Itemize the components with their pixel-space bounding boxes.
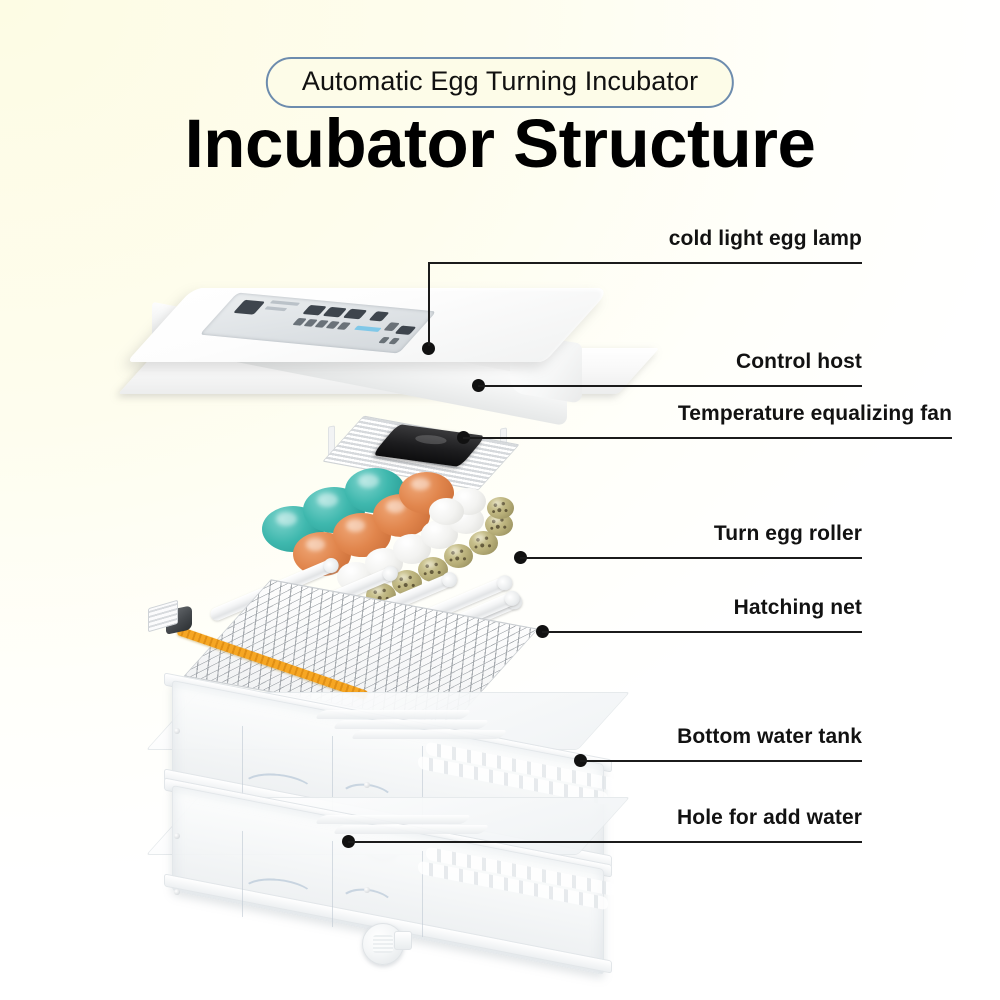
callout-leader-vertical xyxy=(428,262,430,346)
callout-leader-line xyxy=(463,437,952,439)
callout-leader-line xyxy=(542,631,862,633)
callout-leader-line xyxy=(478,385,862,387)
infographic-canvas: Automatic Egg Turning Incubator Incubato… xyxy=(0,0,1000,1000)
callout-label: Hatching net xyxy=(0,596,862,620)
callout-label: Bottom water tank xyxy=(0,725,862,749)
callout-leader-line xyxy=(580,760,862,762)
callout-label: cold light egg lamp xyxy=(0,227,862,251)
callout-leader-line xyxy=(428,262,862,264)
callout-label: Hole for add water xyxy=(0,806,862,830)
callout-label: Temperature equalizing fan xyxy=(0,402,952,426)
exploded-assembly-illustration xyxy=(0,0,1000,1000)
callout-leader-line xyxy=(348,841,862,843)
callout-leader-line xyxy=(520,557,862,559)
callout-label: Control host xyxy=(0,350,862,374)
callout-label: Turn egg roller xyxy=(0,522,862,546)
water-fill-cap xyxy=(362,923,404,965)
